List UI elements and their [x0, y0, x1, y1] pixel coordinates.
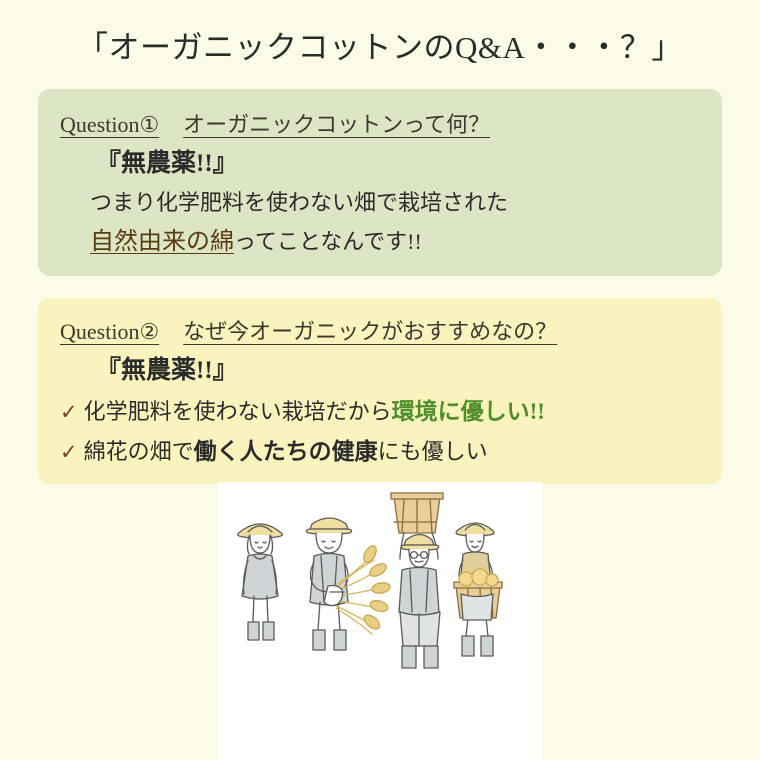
question-2-heading: Question②なぜ今オーガニックがおすすめなの？	[60, 314, 557, 346]
question-1-heading: Question①オーガニックコットンって何？	[60, 107, 490, 139]
question-1-answer-line-1: つまり化学肥料を使わない畑で栽培された	[90, 185, 700, 217]
question-2-emphasis: 『無農薬!!』	[96, 350, 700, 386]
question-1-card: Question①オーガニックコットンって何？ 『無農薬!!』 つまり化学肥料を…	[38, 89, 722, 276]
list-item: ✓ 化学肥料を使わない栽培だから 環境に優しい!!	[60, 392, 700, 426]
check-icon: ✓	[60, 402, 78, 423]
bullet-2-plain: 綿花の畑で	[84, 434, 194, 466]
question-2-text: なぜ今オーガニックがおすすめなの？	[183, 319, 557, 344]
question-2-label: Question②	[60, 319, 159, 344]
question-1-emphasis: 『無農薬!!』	[96, 143, 700, 179]
wooden-basket-raised	[391, 493, 443, 533]
question-1-text: オーガニックコットンって何？	[183, 112, 490, 137]
question-1-label: Question①	[60, 112, 159, 137]
bullet-1-plain: 化学肥料を使わない栽培だから	[84, 394, 392, 426]
page-title: 「オーガニックコットンのQ&A・・・？」	[0, 0, 760, 67]
check-icon: ✓	[60, 442, 78, 463]
question-1-answer-line-2: 自然由来の綿ってことなんです!!	[90, 221, 700, 256]
question-2-card: Question②なぜ今オーガニックがおすすめなの？ 『無農薬!!』 ✓ 化学肥…	[38, 298, 722, 484]
page-root: 「オーガニックコットンのQ&A・・・？」 Question①オーガニックコットン…	[0, 0, 760, 760]
farmers-illustration-svg	[218, 482, 542, 760]
question-1-answer-tail: ってことなんです!!	[234, 229, 422, 254]
bullet-2-tail: にも優しい	[378, 434, 488, 466]
farmers-illustration	[218, 482, 542, 760]
bullet-1-accent: 環境に優しい!!	[392, 392, 545, 426]
question-1-answer-highlight: 自然由来の綿	[90, 229, 234, 255]
list-item: ✓ 綿花の畑で 働く人たちの健康 にも優しい	[60, 432, 700, 466]
bullet-2-accent: 働く人たちの健康	[194, 432, 378, 466]
